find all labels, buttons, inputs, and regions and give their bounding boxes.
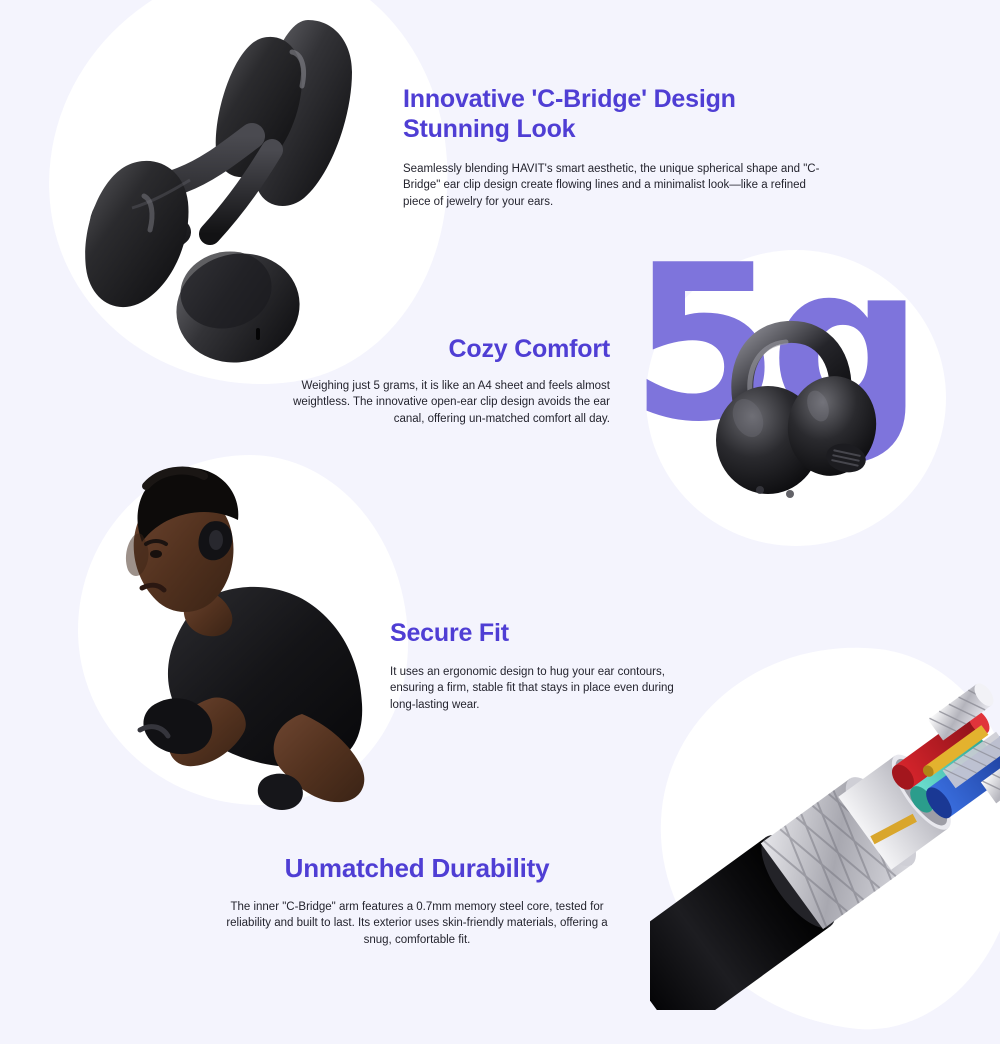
section-1-text: Innovative 'C-Bridge' Design Stunning Lo… xyxy=(403,84,843,210)
section-1-body: Seamlessly blending HAVIT's smart aesthe… xyxy=(403,161,831,210)
cyclist-photo-illustration xyxy=(80,452,410,812)
cable-cross-section-illustration xyxy=(650,650,1000,1010)
earbuds-pair-illustration xyxy=(40,0,440,390)
section-3-text: Secure Fit It uses an ergonomic design t… xyxy=(390,618,690,713)
section-4-text: Unmatched Durability The inner "C-Bridge… xyxy=(222,853,612,948)
section-4-heading: Unmatched Durability xyxy=(222,853,612,884)
single-earbud-illustration xyxy=(690,300,910,520)
section-1-heading: Innovative 'C-Bridge' Design Stunning Lo… xyxy=(403,84,843,144)
section-2-text: Cozy Comfort Weighing just 5 grams, it i… xyxy=(268,334,610,427)
section-2-body: Weighing just 5 grams, it is like an A4 … xyxy=(268,378,610,427)
section-3-heading: Secure Fit xyxy=(390,618,690,648)
section-3-body: It uses an ergonomic design to hug your … xyxy=(390,664,678,713)
section-1-heading-line-2: Stunning Look xyxy=(403,115,575,143)
product-feature-page: Innovative 'C-Bridge' Design Stunning Lo… xyxy=(0,0,1000,1000)
section-4-body: The inner "C-Bridge" arm features a 0.7m… xyxy=(222,899,612,948)
section-2-heading: Cozy Comfort xyxy=(268,334,610,364)
section-1-heading-line-1: Innovative 'C-Bridge' Design xyxy=(403,85,736,113)
